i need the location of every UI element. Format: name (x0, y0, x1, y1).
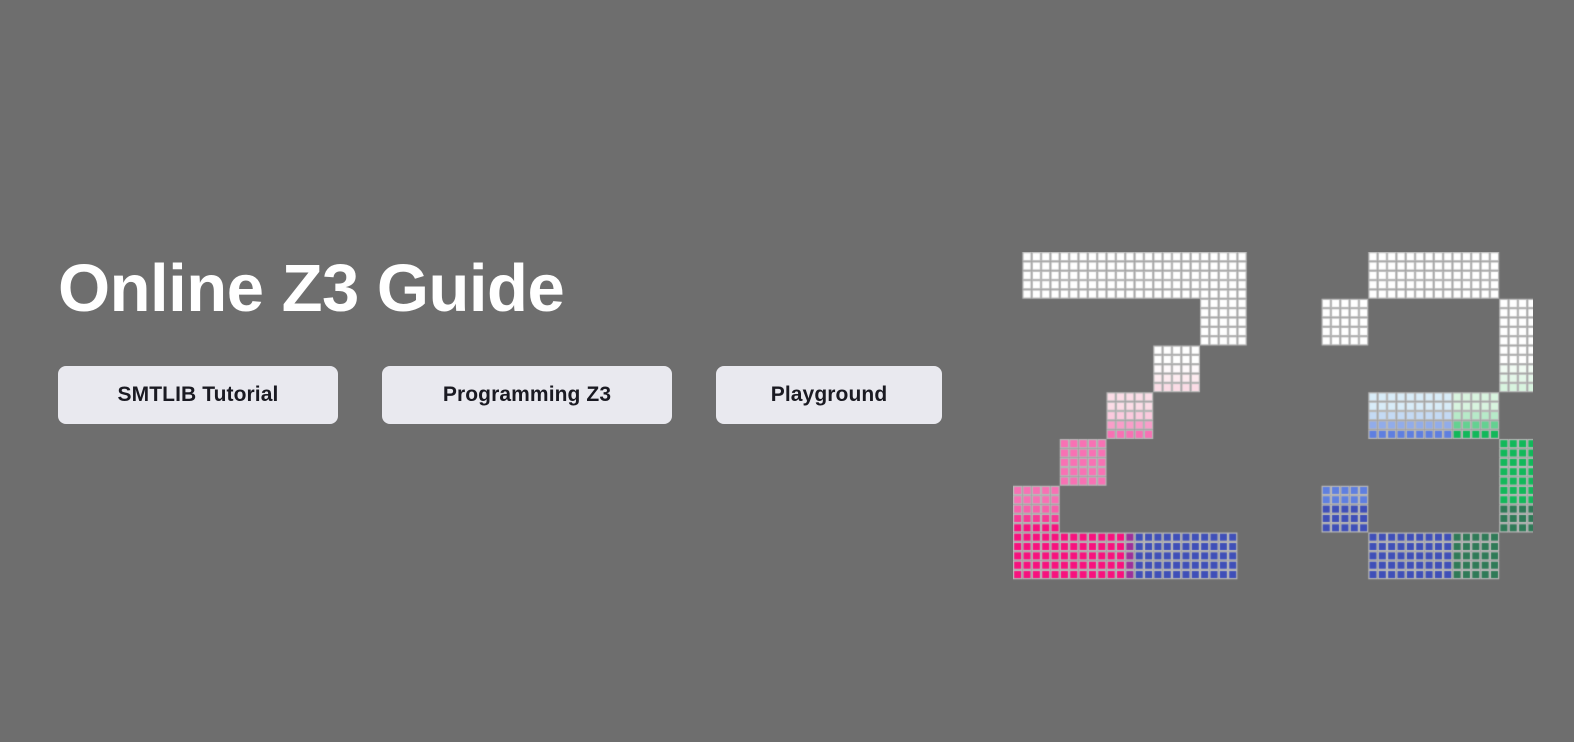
playground-button[interactable]: Playground (716, 366, 942, 424)
hero-button-row: SMTLIB Tutorial Programming Z3 Playgroun… (58, 366, 942, 424)
hero-section: Online Z3 Guide SMTLIB Tutorial Programm… (0, 0, 1574, 742)
page-title: Online Z3 Guide (58, 255, 958, 322)
z3-pixel-logo-canvas (1013, 252, 1533, 592)
z3-logo (1013, 252, 1533, 592)
smtlib-tutorial-button[interactable]: SMTLIB Tutorial (58, 366, 338, 424)
hero-text-block: Online Z3 Guide (58, 255, 958, 322)
programming-z3-button[interactable]: Programming Z3 (382, 366, 672, 424)
